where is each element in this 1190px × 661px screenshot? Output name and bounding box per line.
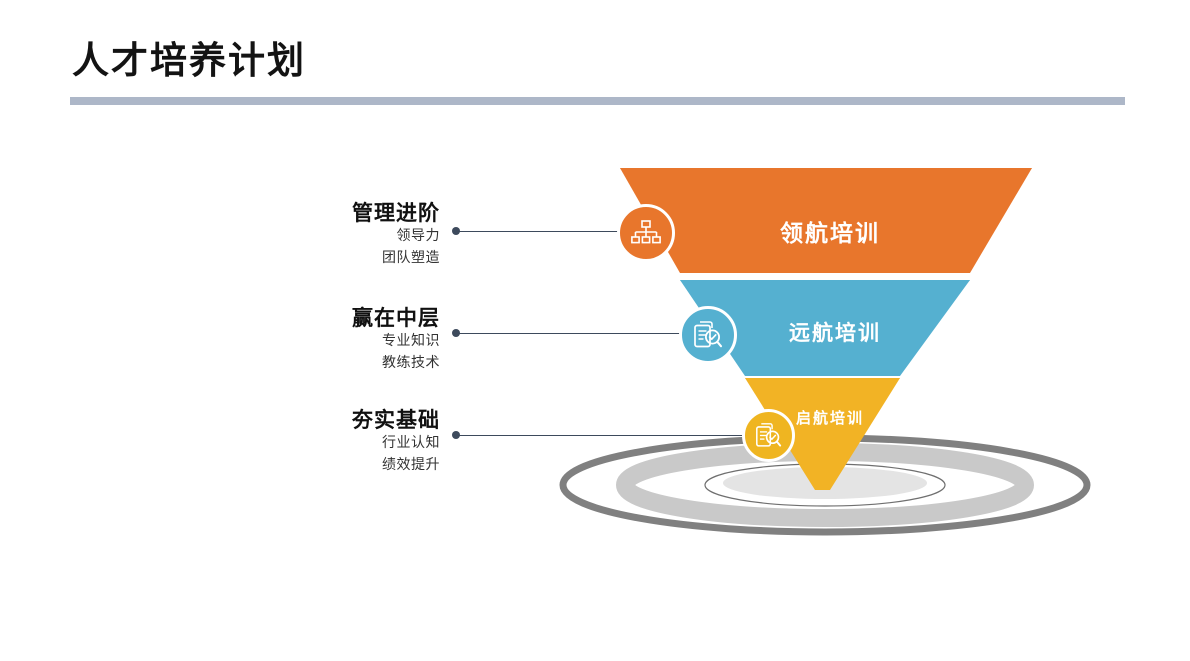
stage-label-group-2: 赢在中层 专业知识 教练技术 — [240, 307, 440, 373]
funnel-label-1: 领航培训 — [700, 214, 960, 248]
funnel-diagram — [540, 150, 1100, 550]
stage-label-group-3: 夯实基础 行业认知 绩效提升 — [240, 409, 440, 475]
document-search-icon-badge-gold[interactable] — [742, 409, 795, 462]
stage-subitem-3-1: 行业认知 — [240, 432, 440, 454]
stage-heading-1: 管理进阶 — [240, 202, 440, 225]
stage-subitem-3-2: 绩效提升 — [240, 454, 440, 476]
stage-heading-2: 赢在中层 — [240, 307, 440, 330]
page-title: 人才培养计划 — [72, 42, 306, 79]
org-chart-icon-badge[interactable] — [617, 204, 675, 262]
document-search-icon — [692, 320, 724, 350]
document-search-icon — [754, 422, 783, 449]
org-chart-icon — [631, 220, 661, 246]
title-divider — [70, 97, 1125, 105]
stage-label-group-1: 管理进阶 领导力 团队塑造 — [240, 202, 440, 268]
stage-subitem-1-1: 领导力 — [240, 225, 440, 247]
stage-subitem-2-2: 教练技术 — [240, 352, 440, 374]
document-search-icon-badge-blue[interactable] — [679, 306, 737, 364]
funnel-label-2: 远航培训 — [735, 317, 935, 347]
stage-subitem-2-1: 专业知识 — [240, 330, 440, 352]
stage-heading-3: 夯实基础 — [240, 409, 440, 432]
stage-subitem-1-2: 团队塑造 — [240, 247, 440, 269]
